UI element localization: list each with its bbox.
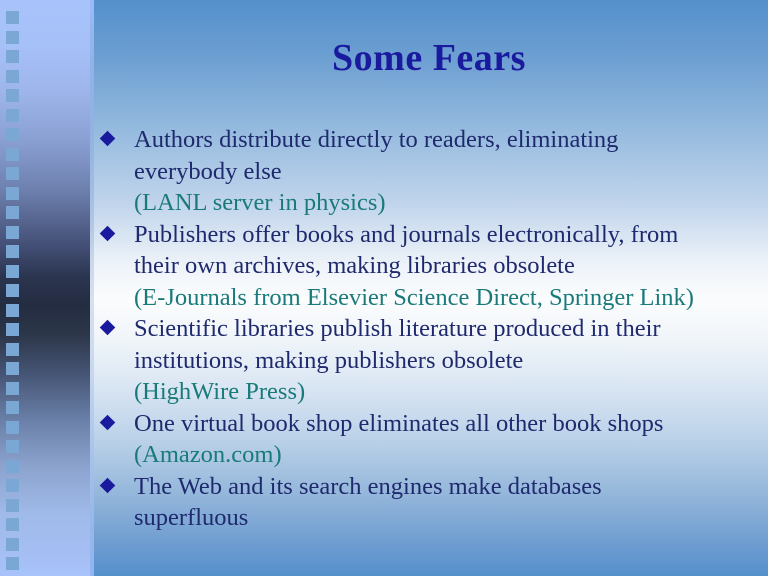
- sidebar-tile: [6, 50, 19, 63]
- sidebar-tile: [6, 401, 19, 414]
- sidebar-tile: [6, 518, 19, 531]
- sidebar-tile: [6, 499, 19, 512]
- bullet-text-line: Scientific libraries publish literature …: [134, 313, 758, 345]
- sidebar-tile: [6, 109, 19, 122]
- sidebar-tile: [6, 421, 19, 434]
- bullet-note-line: (E-Journals from Elsevier Science Direct…: [134, 282, 758, 314]
- bullet-item: Scientific libraries publish literature …: [98, 313, 758, 408]
- sidebar-tile: [6, 382, 19, 395]
- sidebar-tile: [6, 304, 19, 317]
- sidebar-tile: [6, 557, 19, 570]
- bullet-text-line: everybody else: [134, 156, 758, 188]
- sidebar-tile: [6, 206, 19, 219]
- sidebar-tile: [6, 226, 19, 239]
- sidebar-tile: [6, 89, 19, 102]
- sidebar-tile: [6, 362, 19, 375]
- bullet-item: One virtual book shop eliminates all oth…: [98, 408, 758, 471]
- sidebar-tile: [6, 284, 19, 297]
- bullet-item: Authors distribute directly to readers, …: [98, 124, 758, 219]
- bullet-item: Publishers offer books and journals elec…: [98, 219, 758, 314]
- diamond-bullet-icon: [100, 320, 116, 336]
- slide-decorative-sidebar: [0, 0, 90, 576]
- sidebar-tile: [6, 70, 19, 83]
- sidebar-tile: [6, 343, 19, 356]
- sidebar-tile: [6, 245, 19, 258]
- sidebar-tile: [6, 538, 19, 551]
- bullet-text-line: their own archives, making libraries obs…: [134, 250, 758, 282]
- sidebar-tile: [6, 167, 19, 180]
- sidebar-tile: [6, 460, 19, 473]
- bullet-note-line: (Amazon.com): [134, 439, 758, 471]
- presentation-slide: Some Fears Authors distribute directly t…: [0, 0, 768, 576]
- diamond-bullet-icon: [100, 225, 116, 241]
- bullet-text-line: The Web and its search engines make data…: [134, 471, 758, 503]
- bullet-note-line: (HighWire Press): [134, 376, 758, 408]
- sidebar-tile: [6, 128, 19, 141]
- sidebar-tile: [6, 479, 19, 492]
- sidebar-tile: [6, 31, 19, 44]
- sidebar-tile: [6, 148, 19, 161]
- bullet-text-line: institutions, making publishers obsolete: [134, 345, 758, 377]
- diamond-bullet-icon: [100, 414, 116, 430]
- slide-bullet-list: Authors distribute directly to readers, …: [98, 124, 758, 534]
- sidebar-tile: [6, 187, 19, 200]
- bullet-text-line: Authors distribute directly to readers, …: [134, 124, 758, 156]
- diamond-bullet-icon: [100, 131, 116, 147]
- sidebar-tile: [6, 11, 19, 24]
- sidebar-tile: [6, 323, 19, 336]
- bullet-text-line: Publishers offer books and journals elec…: [134, 219, 758, 251]
- slide-title: Some Fears: [90, 38, 768, 80]
- sidebar-tile: [6, 265, 19, 278]
- bullet-text-line: superfluous: [134, 502, 758, 534]
- bullet-text-line: One virtual book shop eliminates all oth…: [134, 408, 758, 440]
- sidebar-edge-highlight: [90, 0, 94, 576]
- sidebar-tile: [6, 440, 19, 453]
- diamond-bullet-icon: [100, 477, 116, 493]
- bullet-item: The Web and its search engines make data…: [98, 471, 758, 534]
- bullet-note-line: (LANL server in physics): [134, 187, 758, 219]
